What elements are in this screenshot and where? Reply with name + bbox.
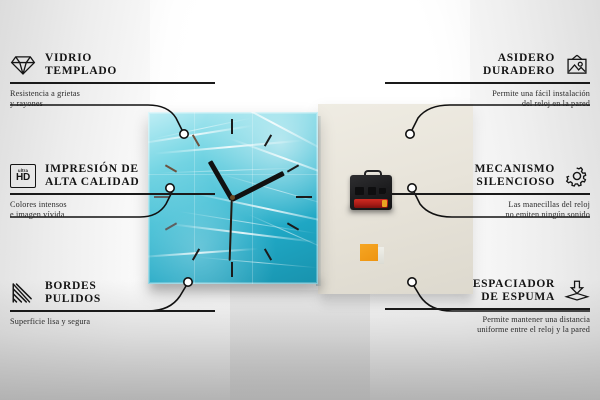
callout-title-line1: IMPRESIÓN DE: [45, 163, 139, 176]
callout-rule: [385, 308, 590, 310]
callout-title-line1: MECANISMO: [475, 163, 555, 176]
callout-title-line1: ESPACIADOR: [473, 278, 555, 291]
callout-title-line2: DURADERO: [483, 65, 555, 78]
callout-desc-line2: uniforme entre el reloj y la pared: [385, 325, 590, 336]
callout-rule: [385, 82, 590, 84]
callout-desc-line2: del reloj en la pared: [385, 99, 590, 110]
callout-bordes-pulidos[interactable]: BORDES PULIDOS Superficie lisa y segura: [10, 280, 215, 327]
callout-title-line1: BORDES: [45, 280, 101, 293]
callout-desc-line1: Las manecillas del reloj: [385, 200, 590, 211]
clock-hand-minute: [231, 171, 285, 202]
callout-title-line2: TEMPLADO: [45, 65, 117, 78]
callout-desc-line1: Colores intensos: [10, 200, 215, 211]
callout-rule: [10, 310, 215, 312]
callout-rule: [385, 193, 590, 195]
clock-hand-hub: [230, 195, 235, 200]
battery: [354, 199, 388, 208]
callout-rule: [10, 82, 215, 84]
callout-desc-line1: Resistencia a grietas: [10, 89, 215, 100]
callout-desc-line1: Permite mantener una distancia: [385, 315, 590, 326]
callout-mecanismo-silencioso[interactable]: MECANISMO SILENCIOSO Las manecillas del …: [385, 163, 590, 221]
callout-title-line1: VIDRIO: [45, 52, 117, 65]
foam-spacer-side: [378, 247, 384, 264]
infographic-canvas: VIDRIO TEMPLADO Resistencia a grietas y …: [0, 0, 600, 400]
callout-desc-line1: Permite una fácil instalación: [385, 89, 590, 100]
callout-desc-line2: e imagen vívida: [10, 210, 215, 221]
diagonal-stripes-icon: [10, 281, 36, 305]
ultra-hd-icon: ultra HD: [10, 164, 36, 188]
callout-desc-line2: y rayones: [10, 99, 215, 110]
callout-title-line1: ASIDERO: [483, 52, 555, 65]
ultra-hd-icon-large-text: HD: [16, 173, 30, 183]
callout-asidero-duradero[interactable]: ASIDERO DURADERO Permite una fácil insta…: [385, 52, 590, 110]
callout-rule: [10, 193, 215, 195]
gear-icon: [564, 164, 590, 188]
mechanism-detail-1: [355, 187, 364, 195]
diamond-icon: [10, 53, 36, 77]
callout-title-line2: DE ESPUMA: [473, 291, 555, 304]
callout-desc-line2: no emiten ningún sonido: [385, 210, 590, 221]
callout-title-line2: SILENCIOSO: [475, 176, 555, 189]
mechanism-detail-2: [368, 187, 376, 195]
arrow-down-layers-icon: [564, 279, 590, 303]
picture-frame-hanger-icon: [564, 53, 590, 77]
foam-spacer: [360, 244, 378, 261]
callout-espaciador-de-espuma[interactable]: ESPACIADOR DE ESPUMA Permite mantener un…: [385, 278, 590, 336]
callout-desc-line1: Superficie lisa y segura: [10, 317, 215, 328]
callout-impresion-alta-calidad[interactable]: ultra HD IMPRESIÓN DE ALTA CALIDAD Color…: [10, 163, 215, 221]
callout-vidrio-templado[interactable]: VIDRIO TEMPLADO Resistencia a grietas y …: [10, 52, 215, 110]
callout-title-line2: PULIDOS: [45, 293, 101, 306]
callout-title-line2: ALTA CALIDAD: [45, 176, 139, 189]
